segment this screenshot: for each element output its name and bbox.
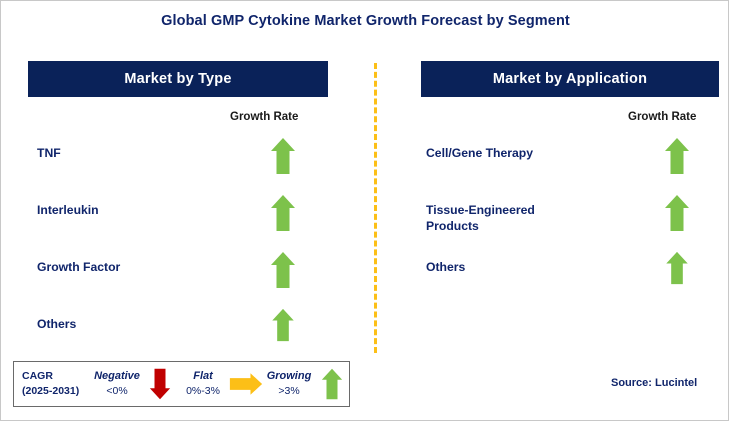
growth-indicator xyxy=(659,192,695,232)
source-note: Source: Lucintel xyxy=(611,377,697,389)
legend-item-text: Growing >3% xyxy=(263,369,315,399)
legend-item-flat: Flat 0%-3% xyxy=(177,369,263,399)
legend-item-text: Flat 0%-3% xyxy=(177,369,229,399)
legend-item-text: Negative <0% xyxy=(91,369,143,399)
segment-row: Cell/Gene Therapy xyxy=(426,135,719,192)
arrow-up-icon xyxy=(270,251,296,289)
arrow-right-icon xyxy=(229,372,263,396)
arrow-up-icon xyxy=(664,194,690,232)
forecast-infographic: Global GMP Cytokine Market Growth Foreca… xyxy=(0,0,729,421)
segment-row: Growth Factor xyxy=(37,249,329,306)
arrow-up-icon xyxy=(321,367,343,401)
segment-label: Others xyxy=(426,249,659,275)
growth-indicator xyxy=(659,135,695,175)
legend-item-range: >3% xyxy=(263,384,315,399)
segment-row: Others xyxy=(37,306,329,363)
legend-metric: CAGR (2025-2031) xyxy=(14,369,91,399)
segment-label: TNF xyxy=(37,135,265,161)
legend-item-negative: Negative <0% xyxy=(91,367,177,401)
segment-row: TNF xyxy=(37,135,329,192)
arrow-up-icon xyxy=(271,308,295,342)
segment-label: Cell/Gene Therapy xyxy=(426,135,659,161)
segment-row: Others xyxy=(426,249,719,306)
arrow-down-icon xyxy=(149,367,171,401)
growth-indicator xyxy=(265,249,301,289)
segment-label: Others xyxy=(37,306,265,332)
arrow-up-icon xyxy=(664,137,690,175)
legend-item-growing: Growing >3% xyxy=(263,367,349,401)
legend-icon-wrapper xyxy=(143,367,177,401)
growth-indicator xyxy=(265,306,301,342)
legend-item-term: Growing xyxy=(263,369,315,384)
legend-metric-name: CAGR xyxy=(22,369,91,384)
segment-label: Tissue-Engineered Products xyxy=(426,192,659,235)
arrow-up-icon xyxy=(270,137,296,175)
growth-rate-column-header-application: Growth Rate xyxy=(628,111,696,123)
segment-row: Interleukin xyxy=(37,192,329,249)
segment-label: Growth Factor xyxy=(37,249,265,275)
segment-list-application: Cell/Gene Therapy Tissue-Engineered Prod… xyxy=(426,135,719,306)
segment-list-type: TNF Interleukin Growth Factor xyxy=(37,135,329,363)
legend-cagr-scale: CAGR (2025-2031) Negative <0% Flat 0%-3% xyxy=(13,361,350,407)
growth-rate-column-header-type: Growth Rate xyxy=(230,111,298,123)
growth-indicator xyxy=(265,192,301,232)
arrow-up-icon xyxy=(665,251,689,285)
legend-metric-period: (2025-2031) xyxy=(22,384,91,399)
legend-item-range: <0% xyxy=(91,384,143,399)
growth-indicator xyxy=(265,135,301,175)
legend-item-range: 0%-3% xyxy=(177,384,229,399)
panel-header-market-by-application: Market by Application xyxy=(421,61,719,97)
segment-label: Interleukin xyxy=(37,192,265,218)
legend-icon-wrapper xyxy=(315,367,349,401)
panel-market-by-type: Market by Type xyxy=(28,61,328,97)
segment-row: Tissue-Engineered Products xyxy=(426,192,719,249)
legend-item-term: Negative xyxy=(91,369,143,384)
panel-header-market-by-type: Market by Type xyxy=(28,61,328,97)
legend-icon-wrapper xyxy=(229,372,263,396)
arrow-up-icon xyxy=(270,194,296,232)
growth-indicator xyxy=(659,249,695,285)
page-title: Global GMP Cytokine Market Growth Foreca… xyxy=(1,13,729,29)
panel-market-by-application: Market by Application xyxy=(421,61,719,97)
legend-item-term: Flat xyxy=(177,369,229,384)
panel-divider xyxy=(374,63,377,353)
